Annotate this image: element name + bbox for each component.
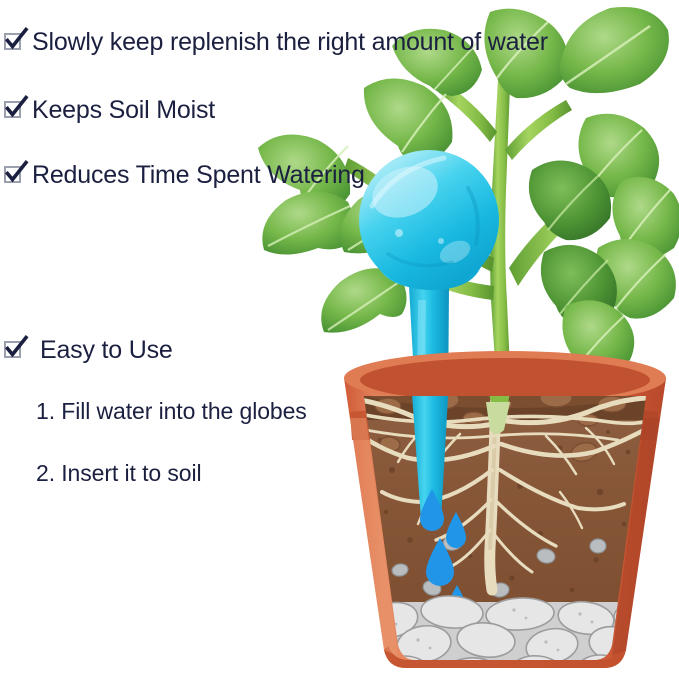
usage-heading-label: Easy to Use bbox=[40, 338, 173, 363]
usage-heading: Easy to Use bbox=[4, 338, 173, 363]
benefit-label-1: Slowly keep replenish the right amount o… bbox=[32, 30, 548, 55]
usage-step-2-label: 2. Insert it to soil bbox=[36, 462, 201, 485]
benefit-item-1: Slowly keep replenish the right amount o… bbox=[4, 30, 548, 55]
water-globe bbox=[359, 150, 499, 290]
checkbox-checked-icon bbox=[4, 165, 25, 186]
usage-step-1: 1. Fill water into the globes bbox=[36, 400, 307, 423]
benefit-item-3: Reduces Time Spent Watering bbox=[4, 163, 365, 188]
benefit-label-3: Reduces Time Spent Watering bbox=[32, 163, 365, 188]
product-feature-graphic: Slowly keep replenish the right amount o… bbox=[0, 0, 679, 679]
usage-step-2: 2. Insert it to soil bbox=[36, 462, 201, 485]
checkbox-checked-icon bbox=[4, 340, 25, 361]
checkbox-checked-icon bbox=[4, 100, 25, 121]
usage-step-1-label: 1. Fill water into the globes bbox=[36, 400, 307, 423]
checkbox-checked-icon bbox=[4, 32, 25, 53]
flower-pot bbox=[341, 351, 666, 679]
benefit-item-2: Keeps Soil Moist bbox=[4, 98, 215, 123]
benefit-label-2: Keeps Soil Moist bbox=[32, 98, 215, 123]
